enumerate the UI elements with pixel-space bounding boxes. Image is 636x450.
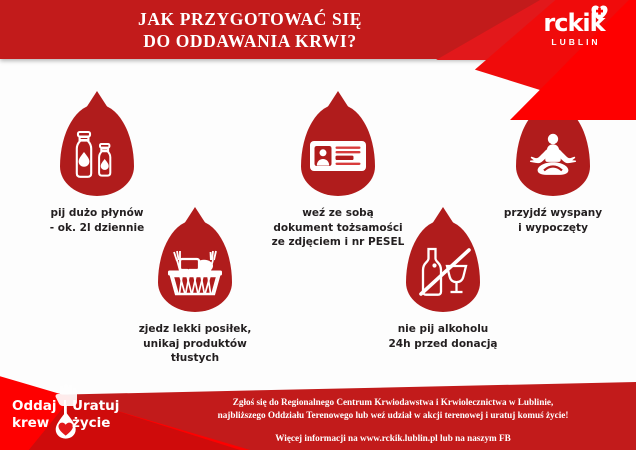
footer-line1: Zgłoś się do Regionalnego Centrum Krwiod…: [150, 396, 636, 410]
oddaj-krew-word3: krew: [12, 415, 49, 432]
oddaj-krew-logo-text: Oddaj Uratuj krew życie: [6, 398, 124, 432]
meditating-person-icon: [516, 124, 590, 188]
heart-with-cross-icon: [591, 5, 608, 21]
water-bottles-icon: [60, 124, 134, 188]
tip-rest-line1: przyjdź wyspany: [478, 206, 628, 221]
poster-root: JAK PRZYGOTOWAĆ SIĘ DO ODDAWANIA KRWI? r…: [0, 0, 636, 450]
tip-water: pij dużo płynów - ok. 2l dziennie: [22, 104, 172, 235]
rckik-logo-sub: LUBLIN: [532, 37, 620, 47]
oddaj-krew-logo[interactable]: Oddaj Uratuj krew życie: [6, 382, 124, 444]
footer-text: Zgłoś się do Regionalnego Centrum Krwiod…: [150, 396, 636, 446]
id-card-icon: [301, 124, 375, 188]
page-title-line1: JAK PRZYGOTOWAĆ SIĘ: [138, 9, 362, 29]
page-title-line2: DO ODDAWANIA KRWI?: [0, 30, 500, 52]
blood-drop-shape: [60, 104, 134, 196]
tip-alcohol-label: nie pij alkoholu 24h przed donacją: [358, 322, 528, 351]
oddaj-krew-row2: krew życie: [6, 415, 124, 432]
tip-meal-line1: zjedz lekki posiłek,: [110, 322, 280, 337]
tip-meal-label: zjedz lekki posiłek, unikaj produktów tł…: [110, 322, 280, 366]
oddaj-krew-word4: życie: [72, 415, 110, 432]
footer-line2: najbliższego Oddziału Terenowego lub weź…: [150, 409, 636, 423]
blood-drop-shape: [406, 220, 480, 312]
rckik-logo[interactable]: rckik LUBLIN: [532, 10, 620, 56]
tip-alcohol: nie pij alkoholu 24h przed donacją: [358, 220, 528, 351]
tip-alcohol-line2: 24h przed donacją: [358, 337, 528, 352]
tip-id-line1: weź ze sobą: [258, 206, 418, 221]
blood-drop-shape: [158, 220, 232, 312]
tip-water-line1: pij dużo płynów: [22, 206, 172, 221]
tip-meal-line3: tłustych: [110, 351, 280, 366]
blood-drop-shape: [301, 104, 375, 196]
no-alcohol-icon: [406, 240, 480, 304]
page-title: JAK PRZYGOTOWAĆ SIĘ DO ODDAWANIA KRWI?: [0, 8, 500, 52]
oddaj-krew-word2: Uratuj: [72, 398, 119, 415]
tip-alcohol-line1: nie pij alkoholu: [358, 322, 528, 337]
oddaj-krew-row1: Oddaj Uratuj: [6, 398, 124, 415]
tip-meal-line2: unikaj produktów: [110, 337, 280, 352]
footer-line3[interactable]: Więcej informacji na www.rckik.lublin.pl…: [150, 432, 636, 446]
oddaj-krew-word1: Oddaj: [12, 398, 57, 415]
picnic-basket-icon: [158, 240, 232, 304]
tip-rest: przyjdź wyspany i wypoczęty: [478, 104, 628, 235]
tip-meal: zjedz lekki posiłek, unikaj produktów tł…: [110, 220, 280, 366]
